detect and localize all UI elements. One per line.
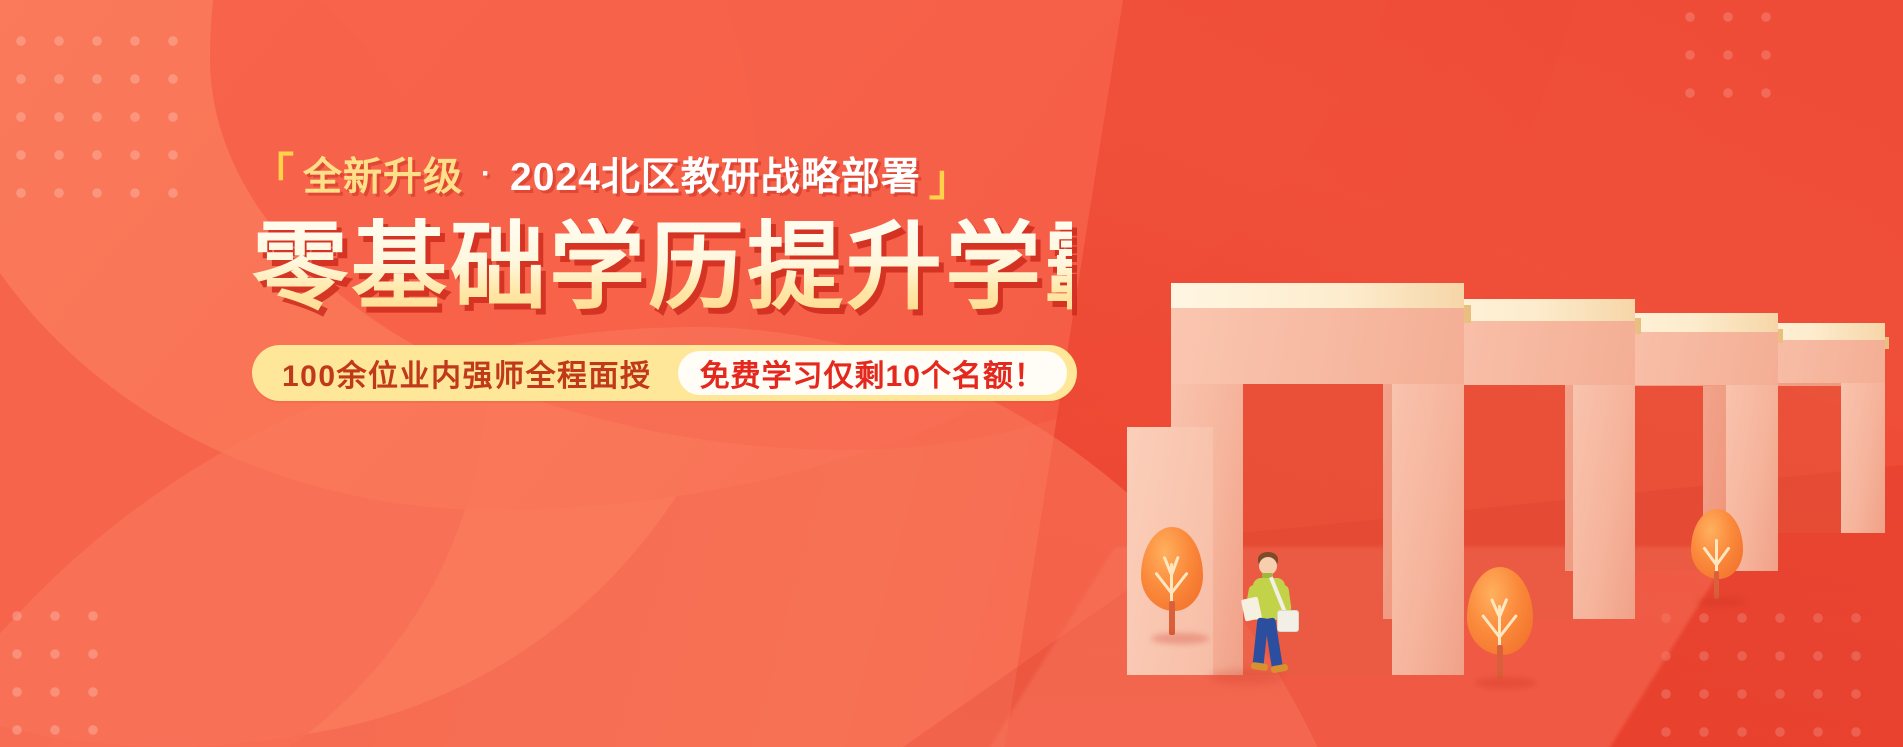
dot-pattern-bottom-left (0, 589, 120, 739)
arch-leg-right (1573, 385, 1635, 619)
subtitle-rest: 2024北区教研战略部署 (510, 146, 921, 202)
tree-mid (1467, 567, 1533, 693)
student-shoe-right (1271, 664, 1289, 674)
tree-trunk (1497, 645, 1503, 679)
arch-leg-right (1841, 383, 1885, 533)
bracket-open-icon: 「 (252, 155, 295, 193)
banner-title: 零基础学历提升学霸班 (252, 218, 1072, 319)
student-messenger-bag (1277, 610, 1299, 632)
tree-shadow (1151, 633, 1209, 644)
student-figure (1237, 552, 1303, 677)
tree-far-right (1691, 509, 1743, 609)
tree-branch (1715, 539, 1718, 573)
tree-shadow (1475, 677, 1537, 689)
subtitle-separator-icon: · (471, 157, 502, 191)
arch-gate-1 (1171, 283, 1471, 675)
offer-pill[interactable]: 100余位业内强师全程面授 免费学习仅剩10个名额！ (252, 345, 1077, 401)
tree-front-left (1141, 527, 1203, 647)
banner-copy: 「 全新升级 · 2024北区教研战略部署 」 零基础学历提升学霸班 100余位… (252, 148, 1072, 401)
arch-leg-right (1392, 384, 1464, 675)
dot-pattern-top-left (0, 14, 194, 226)
bracket-close-icon: 」 (929, 162, 972, 200)
offer-pill-text: 100余位业内强师全程面授 (282, 351, 678, 395)
promo-banner: 「 全新升级 · 2024北区教研战略部署 」 零基础学历提升学霸班 100余位… (0, 0, 1903, 747)
seats-remaining-badge: 免费学习仅剩10个名额！ (678, 351, 1067, 395)
banner-subtitle: 「 全新升级 · 2024北区教研战略部署 」 (252, 148, 1072, 200)
tree-trunk (1169, 601, 1175, 635)
tree-trunk (1714, 571, 1719, 599)
tree-shadow (1697, 597, 1745, 607)
subtitle-highlight: 全新升级 (303, 146, 463, 202)
student-shoe-left (1251, 662, 1269, 671)
campus-illustration (1103, 0, 1903, 747)
